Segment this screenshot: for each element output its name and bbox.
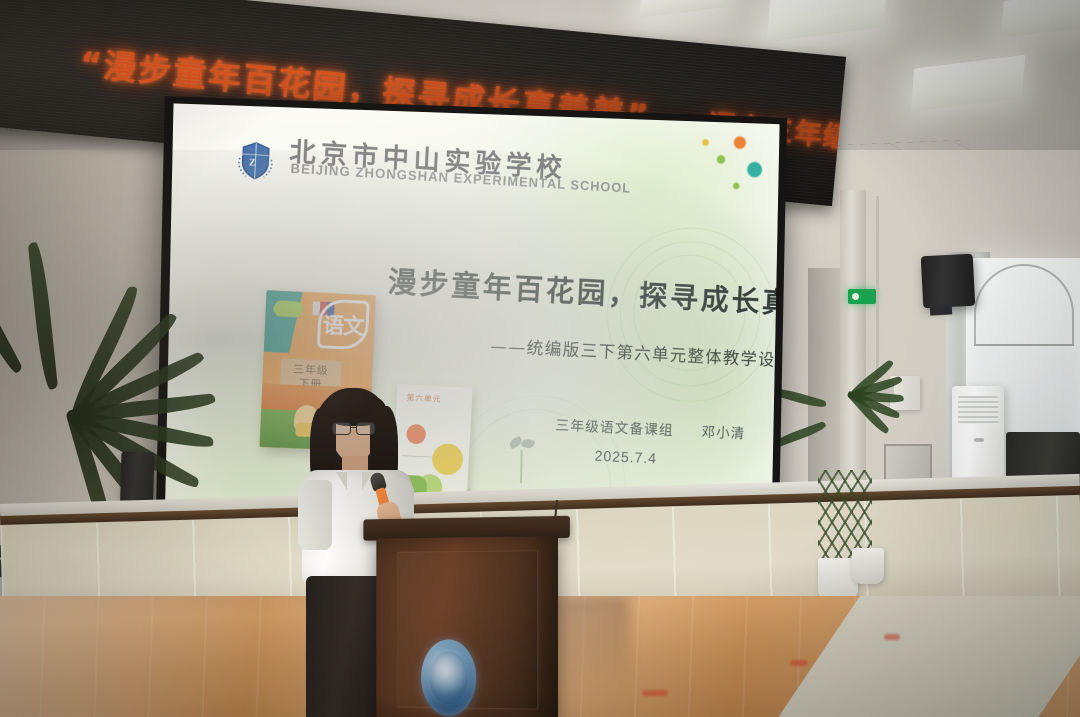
slide-header: Z 北京市中山实验学校 BEIJING ZHONGSHAN EXPERIMENT… [233, 136, 633, 205]
ac-display [974, 438, 984, 442]
school-crest-icon: Z [233, 138, 278, 184]
floor-marker [884, 634, 900, 640]
podium [376, 516, 558, 717]
window-arch-mullion [974, 264, 1074, 346]
exit-sign-icon [848, 289, 876, 304]
school-seal-icon [421, 639, 476, 716]
sprout-icon [509, 438, 535, 483]
crest-letter: Z [249, 157, 256, 168]
podium-body [376, 536, 558, 717]
slide-presenter-name: 邓小清 [701, 421, 746, 443]
slide-date: 2025.7.4 [594, 448, 657, 467]
slide-decor-dot [717, 155, 726, 164]
slide-decor-dot [734, 136, 746, 149]
slide-decor-dot [702, 139, 709, 146]
floor-marker [642, 690, 668, 696]
speaker-bracket [930, 304, 952, 315]
conference-hall-photo: “漫步童年百花园，探寻成长真善美”——语文三年级大单元整体教学成果汇报会 Z [0, 0, 1080, 717]
planter [852, 548, 884, 584]
textbook-badge [273, 300, 303, 317]
textbook-grade: 三年级 [293, 363, 329, 378]
presentation-slide: Z 北京市中山实验学校 BEIJING ZHONGSHAN EXPERIMENT… [164, 103, 779, 543]
ac-grille [958, 396, 998, 424]
slide-decor-dot [747, 162, 762, 178]
speaker-icon [921, 254, 976, 309]
floor-marker [790, 660, 808, 666]
window-mullion [974, 344, 1074, 346]
glasses-icon [332, 422, 378, 436]
slide-decor-dot [733, 182, 740, 189]
